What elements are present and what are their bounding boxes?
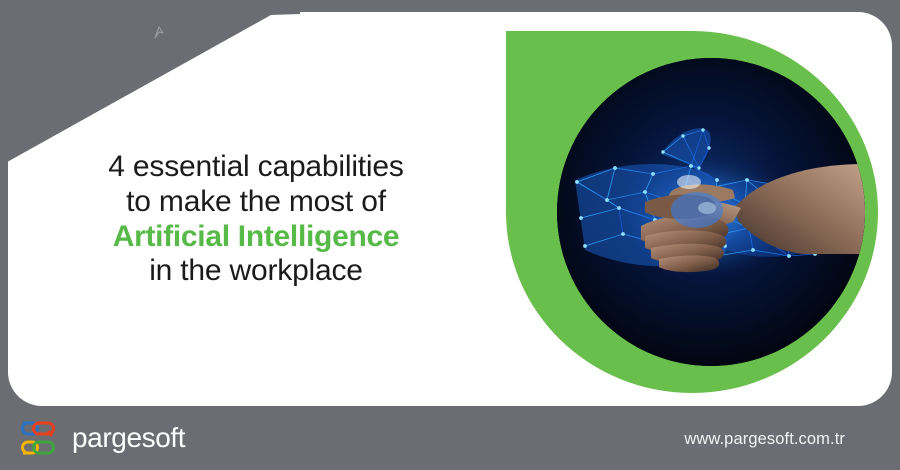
headline-line-3-accent: Artificial Intelligence <box>26 220 486 255</box>
headline-line-4: in the workplace <box>26 254 486 289</box>
brand-logo[interactable]: pargesoft <box>20 420 185 456</box>
artwork-container <box>506 31 878 393</box>
website-url[interactable]: www.pargesoft.com.tr <box>684 430 845 449</box>
brand-name: pargesoft <box>72 422 185 454</box>
pargesoft-logo-icon <box>20 420 60 456</box>
promo-banner: 4 essential capabilities to make the mos… <box>0 0 900 470</box>
headline-line-2: to make the most of <box>26 185 486 220</box>
headline-line-1: 4 essential capabilities <box>26 150 486 185</box>
ai-handshake-photo <box>557 58 865 366</box>
footer-bar: pargesoft www.pargesoft.com.tr <box>0 406 900 470</box>
arrow-cursor-icon <box>150 24 170 44</box>
headline-block: 4 essential capabilities to make the mos… <box>26 150 486 289</box>
